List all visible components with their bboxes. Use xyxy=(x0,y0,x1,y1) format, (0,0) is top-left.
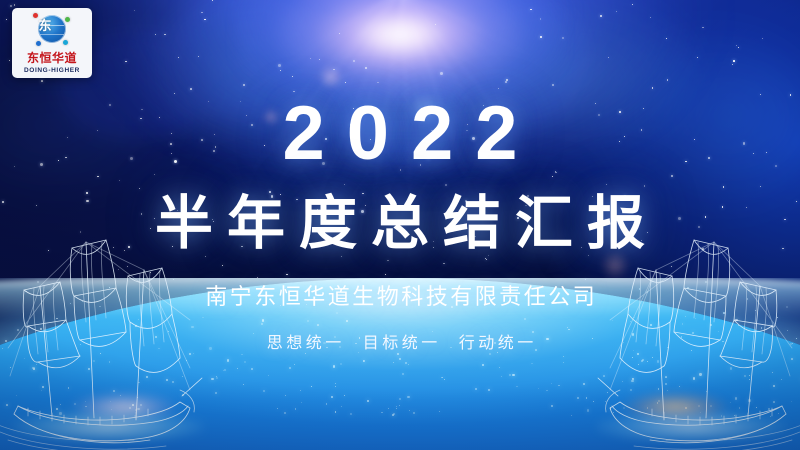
star xyxy=(208,101,209,102)
city-light xyxy=(335,383,336,384)
city-light xyxy=(630,321,631,322)
earth-surface xyxy=(0,278,800,450)
star xyxy=(274,370,275,371)
star xyxy=(618,382,619,383)
light-ray xyxy=(400,0,485,142)
star xyxy=(326,331,328,333)
star xyxy=(592,196,593,197)
star xyxy=(540,36,542,38)
star xyxy=(164,34,165,35)
city-light xyxy=(392,414,394,416)
city-light xyxy=(6,404,8,406)
city-light xyxy=(396,408,398,410)
star xyxy=(433,247,434,248)
star xyxy=(215,146,217,148)
star xyxy=(646,291,648,293)
star xyxy=(713,337,714,338)
star xyxy=(67,380,68,381)
city-light xyxy=(735,397,737,399)
star xyxy=(703,328,704,329)
city-light xyxy=(499,367,500,368)
star xyxy=(177,210,178,211)
year-title: 2022 xyxy=(260,96,539,172)
city-light xyxy=(756,407,757,408)
star xyxy=(591,309,593,311)
city-light xyxy=(285,395,287,397)
star xyxy=(2,201,4,203)
star xyxy=(722,206,724,208)
city-light xyxy=(93,360,95,362)
star xyxy=(97,176,98,177)
city-light xyxy=(243,384,244,385)
star xyxy=(134,10,135,11)
earth-horizon xyxy=(0,278,800,450)
city-light xyxy=(367,400,369,402)
star xyxy=(10,5,13,8)
sailing-ship-left-icon xyxy=(0,200,204,450)
city-light xyxy=(68,387,69,388)
city-light xyxy=(223,370,224,371)
city-light xyxy=(32,367,35,370)
city-light xyxy=(33,368,34,369)
city-light xyxy=(607,392,608,393)
star xyxy=(25,291,27,293)
star xyxy=(647,232,648,233)
city-light xyxy=(301,402,302,403)
star xyxy=(643,108,644,109)
star xyxy=(760,94,761,95)
star xyxy=(588,255,589,256)
star xyxy=(638,360,639,361)
city-light xyxy=(682,323,683,324)
city-light xyxy=(739,407,741,409)
star xyxy=(553,348,555,350)
star xyxy=(213,221,214,222)
light-ray xyxy=(400,0,508,106)
city-light xyxy=(773,401,775,403)
city-light xyxy=(768,408,770,410)
nebula-silhouette xyxy=(318,28,471,177)
star xyxy=(532,306,535,309)
earth-city-lights xyxy=(0,278,800,450)
star xyxy=(474,236,476,238)
city-light xyxy=(182,394,184,396)
star xyxy=(243,84,245,86)
light-ray xyxy=(299,0,404,244)
city-light xyxy=(59,412,61,414)
star xyxy=(139,188,140,189)
star xyxy=(155,34,156,35)
star xyxy=(789,393,790,394)
star xyxy=(118,269,119,270)
city-light xyxy=(568,329,570,331)
star xyxy=(9,60,10,61)
star xyxy=(467,124,468,125)
city-light xyxy=(700,412,701,413)
city-light xyxy=(439,411,440,412)
star xyxy=(433,241,434,242)
city-light xyxy=(444,379,445,380)
city-light xyxy=(111,409,112,410)
star xyxy=(694,139,696,141)
company-logo[interactable]: 东 东恒华道 DOING-HIGHER xyxy=(12,8,92,78)
city-light xyxy=(244,361,246,363)
nebula-cloud xyxy=(120,0,380,150)
city-light xyxy=(363,360,365,362)
city-light xyxy=(630,389,632,391)
city-light xyxy=(563,362,564,363)
city-light xyxy=(494,342,496,344)
light-ray xyxy=(401,0,533,82)
city-light xyxy=(442,377,443,378)
city-light xyxy=(749,375,750,376)
light-ray xyxy=(255,0,403,142)
city-light xyxy=(405,362,407,364)
city-light xyxy=(350,413,352,415)
logo-dot-cyan xyxy=(63,40,68,45)
ship-hull-glow xyxy=(621,392,730,422)
star xyxy=(414,157,416,159)
city-light xyxy=(138,382,140,384)
city-light xyxy=(657,402,658,403)
city-light xyxy=(432,331,433,332)
light-ray xyxy=(401,0,553,68)
city-light xyxy=(749,379,750,380)
star xyxy=(666,38,667,39)
star xyxy=(257,277,258,278)
city-light xyxy=(738,325,739,326)
star xyxy=(630,367,631,368)
star xyxy=(150,228,151,229)
star xyxy=(6,19,7,20)
star xyxy=(113,247,114,248)
city-light xyxy=(193,353,194,354)
star xyxy=(109,287,111,289)
city-light xyxy=(359,337,361,339)
city-light xyxy=(693,377,695,379)
city-light xyxy=(610,407,612,409)
city-light xyxy=(792,343,793,344)
star xyxy=(488,375,490,377)
star xyxy=(159,117,160,118)
city-light xyxy=(216,377,218,379)
star xyxy=(483,105,484,106)
star xyxy=(293,91,295,93)
star xyxy=(639,288,641,290)
city-light xyxy=(781,379,782,380)
city-light xyxy=(155,336,157,338)
star xyxy=(103,364,104,365)
star xyxy=(125,61,126,62)
city-light xyxy=(770,416,771,417)
city-light xyxy=(409,410,410,411)
star xyxy=(171,153,172,154)
star xyxy=(483,212,484,213)
star xyxy=(241,246,243,248)
city-light xyxy=(681,336,683,338)
star xyxy=(483,339,484,340)
city-light xyxy=(710,405,712,407)
star xyxy=(644,185,646,187)
star xyxy=(109,104,111,106)
light-ray xyxy=(368,0,405,235)
star xyxy=(575,384,577,386)
city-light xyxy=(623,342,624,343)
city-light xyxy=(135,409,137,411)
city-light xyxy=(722,341,724,343)
city-light xyxy=(791,401,792,402)
city-light xyxy=(691,350,692,351)
city-light xyxy=(241,354,243,356)
city-light xyxy=(339,346,341,348)
star xyxy=(466,130,468,132)
star xyxy=(184,393,187,396)
starfield xyxy=(0,0,800,450)
star xyxy=(80,231,82,233)
nebula-cloud xyxy=(280,0,580,160)
city-light xyxy=(253,333,254,334)
city-light xyxy=(399,398,402,401)
space-gradient-right xyxy=(432,0,800,360)
city-light xyxy=(773,385,775,387)
city-light xyxy=(99,306,101,308)
city-light xyxy=(633,350,635,352)
star xyxy=(703,366,706,369)
star xyxy=(790,94,792,96)
star xyxy=(128,246,130,248)
city-light xyxy=(787,330,788,331)
star xyxy=(723,186,725,188)
city-light xyxy=(685,407,687,409)
city-light xyxy=(632,357,633,358)
city-light xyxy=(695,318,696,319)
star xyxy=(606,184,607,185)
city-light xyxy=(74,403,76,405)
star xyxy=(14,166,16,168)
city-light xyxy=(610,408,612,410)
star xyxy=(527,195,529,197)
logo-company-name-cn: 东恒华道 xyxy=(27,52,77,65)
star xyxy=(67,137,68,138)
star xyxy=(505,81,507,83)
nebula-cloud-layer xyxy=(0,0,800,450)
star xyxy=(36,205,37,206)
city-light xyxy=(551,383,553,385)
star xyxy=(262,335,265,338)
city-light xyxy=(17,329,19,331)
star xyxy=(201,139,203,141)
city-light xyxy=(685,316,686,317)
star xyxy=(753,153,754,154)
city-light xyxy=(10,367,11,368)
light-ray xyxy=(277,0,403,64)
star xyxy=(213,150,215,152)
star xyxy=(390,294,392,296)
city-light xyxy=(109,361,111,363)
city-light xyxy=(623,407,625,409)
light-ray xyxy=(337,0,401,206)
star xyxy=(472,137,475,140)
star xyxy=(435,24,436,25)
nebula-cloud xyxy=(590,30,800,220)
city-light xyxy=(718,331,719,332)
star xyxy=(625,227,626,228)
city-light xyxy=(586,397,588,399)
star xyxy=(664,318,666,320)
star xyxy=(443,263,445,265)
city-light xyxy=(658,388,660,390)
star xyxy=(278,64,281,67)
city-light xyxy=(641,360,643,362)
star xyxy=(687,287,688,288)
earth-atmosphere-glow xyxy=(0,278,800,318)
city-light xyxy=(632,378,633,379)
sailing-ship-right-icon xyxy=(596,200,800,450)
star xyxy=(506,79,509,82)
city-light xyxy=(535,349,537,351)
city-light xyxy=(262,319,264,321)
city-light xyxy=(592,338,593,339)
light-ray xyxy=(400,0,438,126)
vignette-overlay xyxy=(0,0,800,450)
star xyxy=(377,337,378,338)
star xyxy=(71,341,73,343)
light-ray xyxy=(282,0,402,85)
city-light xyxy=(393,362,394,363)
star xyxy=(775,165,777,167)
star xyxy=(598,114,600,116)
star xyxy=(86,200,89,203)
star xyxy=(250,384,252,386)
city-light xyxy=(699,373,701,375)
star xyxy=(796,338,797,339)
city-light xyxy=(191,326,194,329)
city-light xyxy=(587,409,590,412)
city-light xyxy=(333,365,335,367)
city-light xyxy=(647,361,648,362)
city-light xyxy=(497,352,498,353)
star xyxy=(387,260,389,262)
star xyxy=(430,304,431,305)
star xyxy=(327,388,329,390)
star xyxy=(201,12,203,14)
slogan-row: 思想统一目标统一行动统一 xyxy=(263,329,537,353)
star xyxy=(619,111,621,113)
city-light xyxy=(341,406,343,408)
nebula-silhouette xyxy=(152,0,335,140)
city-light xyxy=(300,390,301,391)
city-light xyxy=(667,390,668,391)
star xyxy=(150,272,151,273)
star xyxy=(34,349,35,350)
star xyxy=(608,57,609,58)
star xyxy=(345,82,346,83)
city-light xyxy=(137,408,140,411)
city-light xyxy=(280,305,281,306)
star xyxy=(331,338,332,339)
star xyxy=(708,157,710,159)
city-light xyxy=(692,332,694,334)
city-light xyxy=(274,330,275,331)
city-light xyxy=(227,359,229,361)
star xyxy=(427,157,430,160)
city-light xyxy=(331,396,333,398)
city-light xyxy=(24,358,25,359)
star xyxy=(552,84,554,86)
ship-hull-glow xyxy=(70,392,179,422)
star xyxy=(457,240,458,241)
city-light xyxy=(277,408,279,410)
star xyxy=(377,82,379,84)
star xyxy=(660,320,662,322)
light-ray xyxy=(242,0,404,182)
star xyxy=(732,64,733,65)
star xyxy=(667,79,669,81)
star xyxy=(558,342,559,343)
star xyxy=(212,219,214,221)
city-light xyxy=(571,415,572,416)
star xyxy=(386,342,388,344)
city-light xyxy=(583,383,585,385)
star xyxy=(562,37,564,39)
star xyxy=(344,184,345,185)
star xyxy=(86,192,88,194)
star xyxy=(317,209,318,210)
lens-flare xyxy=(408,92,442,126)
city-light xyxy=(186,360,187,361)
city-light xyxy=(40,328,42,330)
star xyxy=(124,250,125,251)
city-light xyxy=(413,412,415,414)
lens-flare xyxy=(318,64,344,90)
star xyxy=(448,288,449,289)
star xyxy=(240,101,241,102)
city-light xyxy=(85,406,86,407)
city-light xyxy=(290,338,291,339)
star xyxy=(102,390,103,391)
city-light xyxy=(772,372,773,373)
star xyxy=(170,143,172,145)
star xyxy=(173,279,174,280)
star xyxy=(755,310,756,311)
star xyxy=(70,303,71,304)
star xyxy=(530,9,532,11)
star xyxy=(555,171,556,172)
city-light xyxy=(532,331,534,333)
city-light xyxy=(665,383,667,385)
star xyxy=(669,336,672,339)
city-light xyxy=(268,375,269,376)
city-light xyxy=(326,347,328,349)
city-light xyxy=(538,388,539,389)
star xyxy=(780,365,782,367)
star xyxy=(705,216,706,217)
city-light xyxy=(85,401,86,402)
city-light xyxy=(336,312,338,314)
star xyxy=(710,352,712,354)
star xyxy=(280,70,281,71)
city-light xyxy=(168,331,169,332)
star xyxy=(435,341,436,342)
city-light xyxy=(5,340,7,342)
star xyxy=(103,375,105,377)
city-light xyxy=(558,385,560,387)
star xyxy=(671,175,673,177)
light-ray xyxy=(400,0,412,208)
star xyxy=(698,226,700,228)
star xyxy=(280,194,281,195)
star xyxy=(678,217,681,220)
